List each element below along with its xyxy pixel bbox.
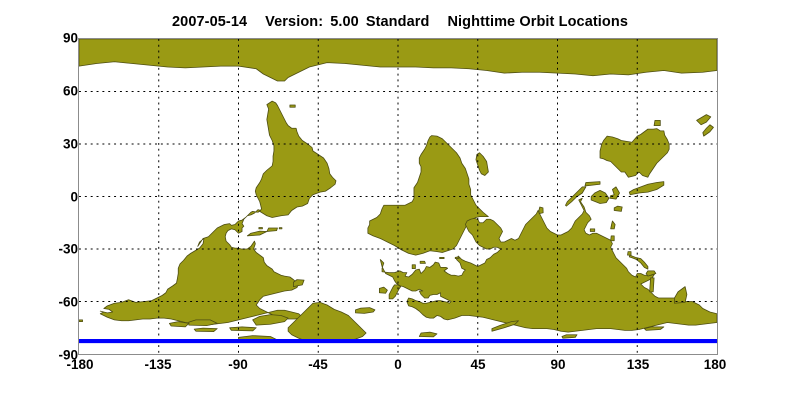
land-greenland — [288, 302, 366, 341]
chart-title: 2007-05-14Version:5.00StandardNighttime … — [0, 14, 800, 30]
title-description: Nighttime Orbit Locations — [447, 14, 628, 30]
land-iceland — [355, 308, 374, 314]
land-africa — [368, 136, 489, 256]
land-mindanao — [614, 206, 622, 211]
x-tick-label-180: 180 — [680, 357, 750, 372]
land-new-zealand-north — [703, 125, 714, 136]
land-new-guinea — [629, 182, 664, 195]
x-tick-label-135: 135 — [603, 357, 673, 372]
x-tick-label-m45: -45 — [283, 357, 353, 372]
land-falklands — [290, 105, 295, 107]
land-sri-lanka — [539, 207, 543, 214]
x-tick-label-m90: -90 — [203, 357, 273, 372]
y-tick-label-m60: -60 — [18, 295, 78, 310]
x-tick-label-m135: -135 — [123, 357, 193, 372]
land-philippines — [611, 221, 615, 229]
land-crete — [440, 257, 444, 258]
land-taiwan — [611, 236, 615, 241]
land-melville-island — [194, 328, 217, 332]
x-tick-label-90: 90 — [523, 357, 593, 372]
land-kyushu — [628, 252, 632, 256]
land-tasmania — [654, 120, 660, 125]
land-ireland — [379, 287, 387, 293]
x-tick-label-m180: -180 — [45, 357, 115, 372]
title-version-value: 5.00 — [330, 14, 359, 30]
land-cuba — [247, 231, 266, 236]
land-japan — [646, 271, 656, 276]
land-honshu — [629, 255, 648, 269]
map-plot-area — [78, 38, 718, 355]
y-tick-label-60: 60 — [18, 83, 78, 98]
land-great-britain — [389, 285, 401, 299]
y-tick-label-90: 90 — [18, 31, 78, 46]
land-australia — [600, 129, 669, 178]
land-puerto-rico — [279, 228, 282, 229]
land-severnaya-zemlya — [562, 335, 577, 339]
land-hispaniola — [267, 228, 278, 232]
orbit-map-figure: 2007-05-14Version:5.00StandardNighttime … — [0, 0, 800, 400]
land-baffin-island — [253, 315, 288, 326]
land-north-america — [100, 210, 302, 326]
x-tick-label-45: 45 — [443, 357, 513, 372]
land-south-america — [255, 101, 336, 217]
land-jamaica — [259, 227, 263, 228]
title-mode: Standard — [366, 14, 430, 30]
land-sulawesi — [610, 187, 620, 199]
title-version-label: Version: — [265, 14, 323, 30]
land-newfoundland — [293, 280, 304, 287]
land-hainan — [590, 229, 594, 232]
land-svalbard — [419, 332, 437, 337]
land-sakhalin — [650, 278, 654, 292]
y-tick-label-m30: -30 — [18, 242, 78, 257]
land-devon-island — [230, 327, 257, 331]
land-kamchatka — [674, 287, 686, 304]
world-map-svg — [79, 39, 717, 354]
land-sardinia — [412, 265, 415, 269]
land-wrangel — [79, 320, 83, 322]
land-cyprus — [455, 257, 459, 259]
y-tick-label-0: 0 — [18, 189, 78, 204]
land-java — [585, 182, 600, 186]
land-new-zealand-south — [697, 115, 711, 125]
title-date: 2007-05-14 — [172, 14, 247, 30]
y-tick-label-30: 30 — [18, 136, 78, 151]
land-sicily — [420, 261, 425, 263]
x-tick-label-0: 0 — [363, 357, 433, 372]
